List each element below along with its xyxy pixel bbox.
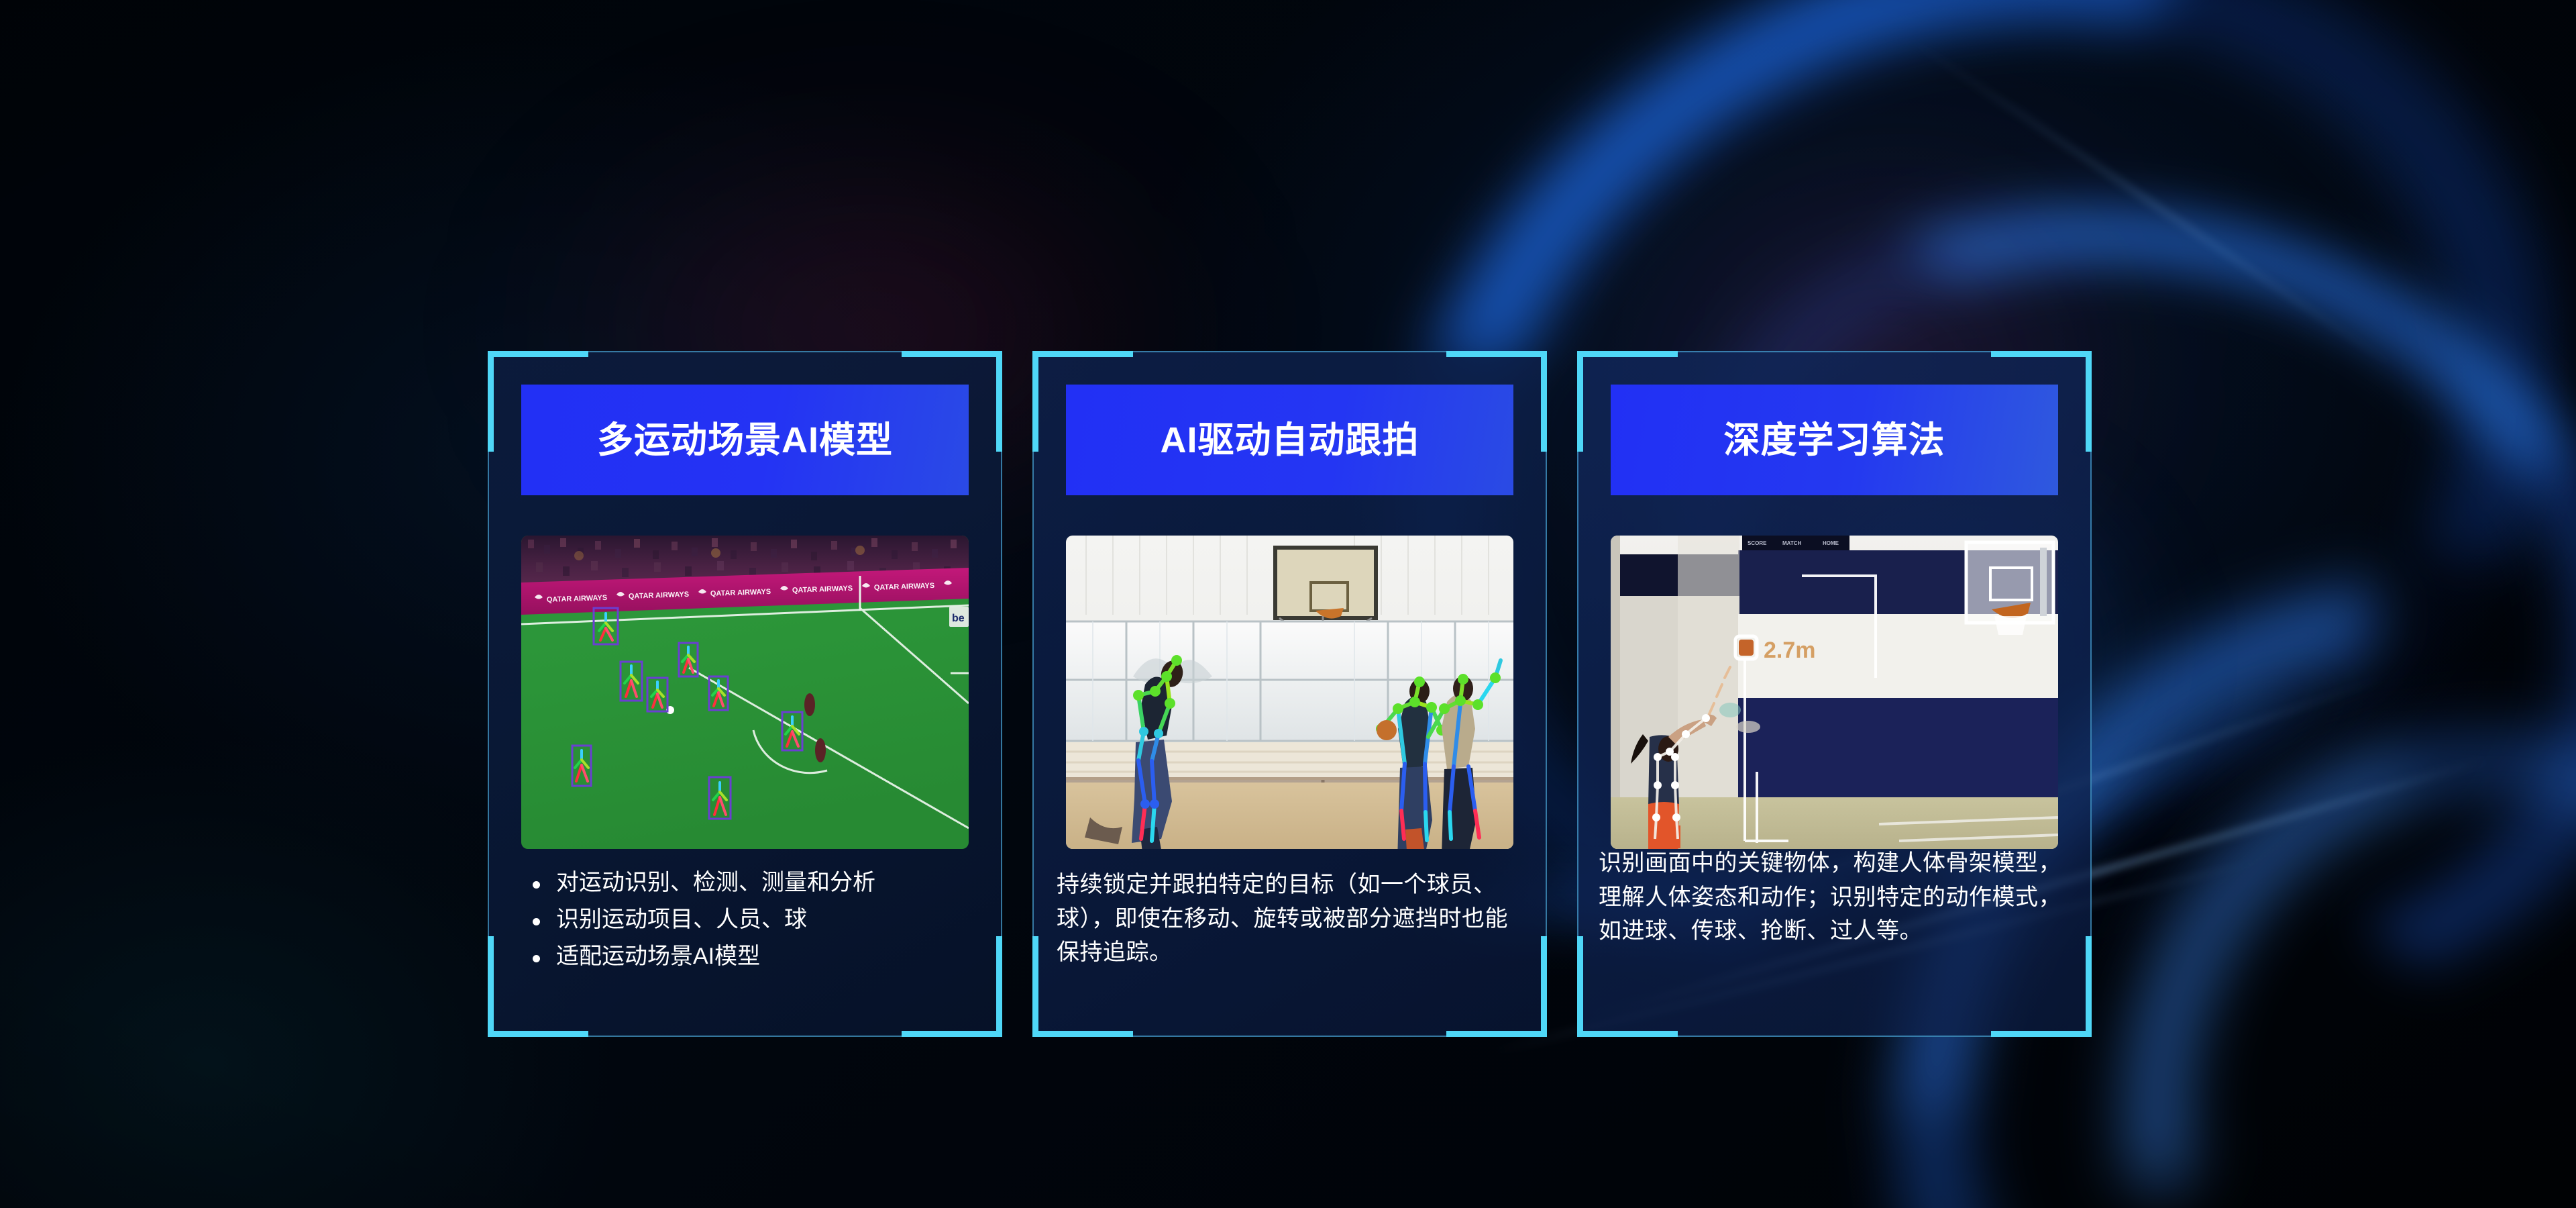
card-header-banner: 深度学习算法 [1611,385,2058,495]
card-description: 持续锁定并跟拍特定的目标（如一个球员、球），即使在移动、旋转或被部分遮挡时也能保… [1057,868,1529,970]
basketball-gym-pose-tracking-image [1066,536,1513,849]
measurement-label: 2.7m [1764,638,1816,663]
card-title: AI驱动自动跟拍 [1161,422,1419,458]
feature-card[interactable]: 多运动场景AI模型 [488,351,1002,1037]
page-stage: 多运动场景AI模型 [0,0,2576,1208]
svg-text:be: be [952,613,965,624]
card-title: 多运动场景AI模型 [597,422,893,458]
card-body: 识别画面中的关键物体，构建人体骨架模型，理解人体姿态和动作；识别特定的动作模式，… [1599,846,2077,948]
card-title: 深度学习算法 [1724,422,1945,458]
feature-card[interactable]: AI驱动自动跟拍 [1032,351,1547,1037]
basketball-shot-measurement-image: SCOREMATCHHOME [1611,536,2058,849]
list-item: 识别运动项目、人员、球 [521,903,978,937]
list-item: 适配运动场景AI模型 [521,940,978,974]
feature-bullet-list: 对运动识别、检测、测量和分析 识别运动项目、人员、球 适配运动场景AI模型 [521,866,978,974]
list-item: 对运动识别、检测、测量和分析 [521,866,978,900]
soccer-pose-detection-image: QATAR AIRWAYS QATAR AIRWAYS QATAR AIRWAY… [521,536,969,849]
card-description: 识别画面中的关键物体，构建人体骨架模型，理解人体姿态和动作；识别特定的动作模式，… [1599,846,2077,948]
card-header-banner: AI驱动自动跟拍 [1066,385,1513,495]
svg-text:HOME: HOME [1823,540,1839,546]
card-body: 持续锁定并跟拍特定的目标（如一个球员、球），即使在移动、旋转或被部分遮挡时也能保… [1057,868,1529,970]
svg-text:MATCH: MATCH [1782,540,1802,546]
feature-card[interactable]: 深度学习算法 [1577,351,2092,1037]
card-header-banner: 多运动场景AI模型 [521,385,969,495]
card-body: 对运动识别、检测、测量和分析 识别运动项目、人员、球 适配运动场景AI模型 [521,866,978,977]
feature-card-list: 多运动场景AI模型 [488,351,2092,1037]
svg-text:SCORE: SCORE [1748,540,1767,546]
